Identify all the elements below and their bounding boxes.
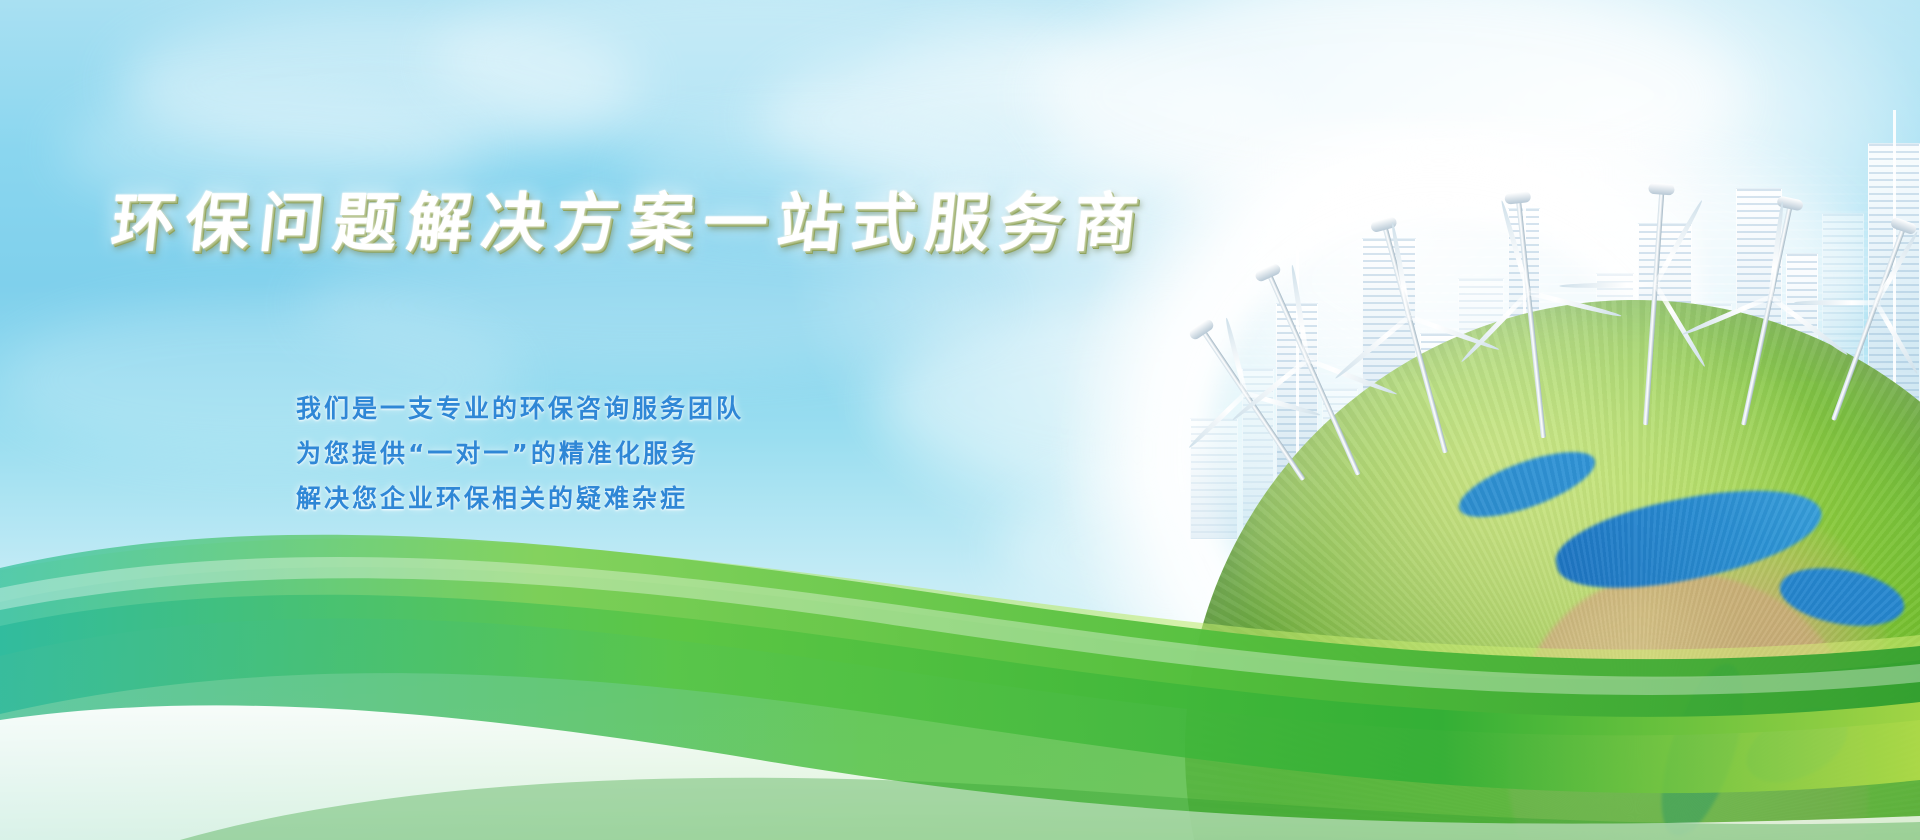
subtitle-line-2: 为您提供“一对一”的精准化服务 (296, 431, 744, 476)
promo-banner: 环保问题解决方案一站式服务商 我们是一支专业的环保咨询服务团队 为您提供“一对一… (0, 0, 1920, 840)
subtitle-line-1: 我们是一支专业的环保咨询服务团队 (296, 386, 744, 431)
page-title: 环保问题解决方案一站式服务商 (107, 172, 1153, 264)
subtitle-line-3: 解决您企业环保相关的疑难杂症 (296, 476, 744, 521)
green-wave-ribbon-graphic (0, 420, 1920, 840)
subtitle-block: 我们是一支专业的环保咨询服务团队 为您提供“一对一”的精准化服务 解决您企业环保… (296, 386, 744, 521)
